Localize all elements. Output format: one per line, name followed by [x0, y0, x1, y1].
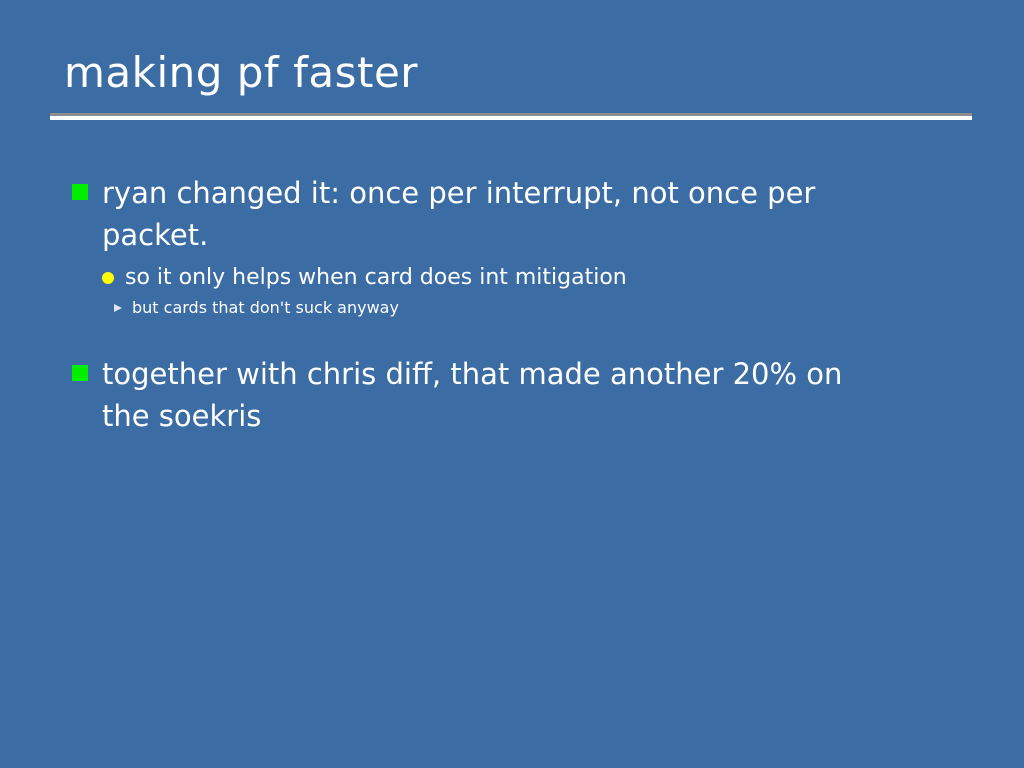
list-item-label: together with chris diff, that made anot…	[102, 353, 892, 437]
list-item: ryan changed it: once per interrupt, not…	[72, 172, 972, 256]
title-divider	[50, 113, 972, 120]
yellow-circle-bullet-icon	[102, 272, 114, 284]
title-divider-bottom-line	[50, 116, 972, 120]
grey-arrow-bullet-icon	[114, 304, 123, 313]
presentation-slide: making pf faster ryan changed it: once p…	[0, 0, 1024, 768]
list-item-label: but cards that don't suck anyway	[132, 296, 399, 319]
list-item: together with chris diff, that made anot…	[72, 353, 972, 437]
page-title: making pf faster	[50, 47, 974, 99]
list-item: but cards that don't suck anyway	[114, 296, 972, 319]
slide-body: ryan changed it: once per interrupt, not…	[72, 172, 972, 437]
list-item-label: so it only helps when card does int miti…	[125, 262, 627, 293]
bullet-group-spacer	[72, 319, 972, 353]
list-item: so it only helps when card does int miti…	[102, 262, 972, 293]
title-block: making pf faster	[50, 47, 974, 99]
green-square-bullet-icon	[72, 365, 88, 381]
list-item-label: ryan changed it: once per interrupt, not…	[102, 172, 892, 256]
green-square-bullet-icon	[72, 184, 88, 200]
